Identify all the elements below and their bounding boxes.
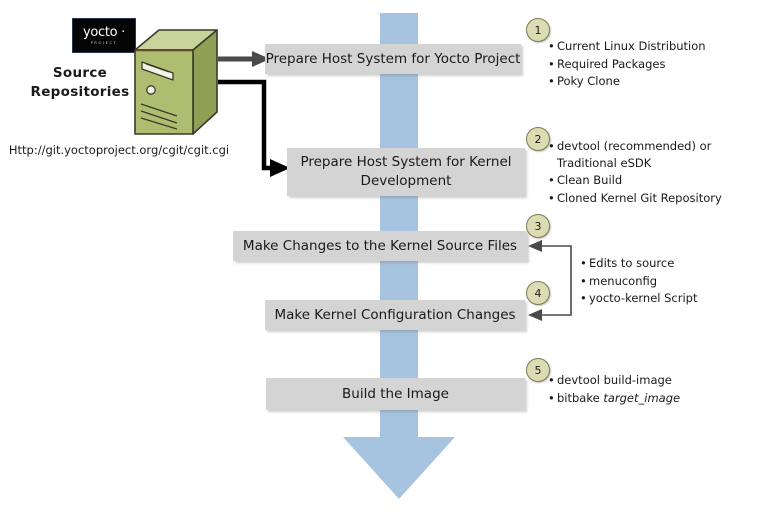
list-item: • Poky Clone	[548, 73, 762, 90]
bullet-marker-icon: •	[548, 172, 557, 189]
process-box-step-2[interactable]: Prepare Host System for Kernel Developme…	[287, 148, 525, 196]
step-badge-1-number: 1	[535, 24, 542, 37]
yocto-logo-wordmark: yocto ·	[83, 26, 125, 39]
step-badge-3: 3	[526, 214, 550, 238]
bullet-list-steps-3-4: • Edits to source • menuconfig • yocto-k…	[580, 255, 760, 308]
source-repositories-label: Source Repositories	[16, 64, 144, 102]
list-item-label: menuconfig	[589, 273, 760, 290]
bullet-marker-icon: •	[580, 255, 589, 272]
process-box-step-5-label: Build the Image	[342, 385, 449, 404]
step-badge-4-number: 4	[535, 287, 542, 300]
step-badge-4: 4	[526, 281, 550, 305]
list-item: • Current Linux Distribution	[548, 38, 762, 55]
process-box-step-2-label: Prepare Host System for Kernel Developme…	[300, 153, 511, 191]
bullet-marker-icon: •	[548, 190, 557, 207]
step-badge-3-number: 3	[535, 220, 542, 233]
process-box-step-1-label: Prepare Host System for Yocto Project	[266, 50, 521, 69]
bullet-marker-icon: •	[580, 290, 589, 307]
list-item-label: yocto-kernel Script	[589, 290, 760, 307]
list-item-label-composite: bitbake target_image	[557, 390, 762, 407]
step-badge-5: 5	[526, 358, 550, 382]
yocto-logo-subtitle: PROJECT	[91, 40, 118, 46]
step-badge-5-number: 5	[535, 364, 542, 377]
bullet-marker-icon: •	[548, 38, 557, 55]
process-box-step-3[interactable]: Make Changes to the Kernel Source Files	[233, 231, 527, 261]
step-badge-2: 2	[526, 127, 550, 151]
list-item: • Required Packages	[548, 56, 762, 73]
list-item-label: devtool (recommended) or Traditional eSD…	[557, 138, 762, 171]
bullet-marker-icon: •	[548, 390, 557, 407]
bullet-marker-icon: •	[548, 138, 557, 171]
process-box-step-4[interactable]: Make Kernel Configuration Changes	[265, 300, 525, 330]
list-item: • devtool (recommended) or Traditional e…	[548, 138, 762, 171]
list-item: • yocto-kernel Script	[580, 290, 760, 307]
process-box-step-1[interactable]: Prepare Host System for Yocto Project	[265, 44, 521, 74]
list-item-label: devtool build-image	[557, 372, 762, 389]
workflow-spine-arrowhead	[343, 437, 455, 499]
process-box-step-4-label: Make Kernel Configuration Changes	[274, 306, 515, 325]
list-item-label: Cloned Kernel Git Repository	[557, 190, 762, 207]
server-icon	[133, 28, 219, 138]
process-box-step-2-label-line2: Development	[361, 173, 452, 189]
list-item-label: Poky Clone	[557, 73, 762, 90]
list-item: • Cloned Kernel Git Repository	[548, 190, 762, 207]
list-item: • Clean Build	[548, 172, 762, 189]
list-item-label-italic: target_image	[603, 391, 680, 405]
list-item-label: Clean Build	[557, 172, 762, 189]
source-repositories-url: Http://git.yoctoproject.org/cgit/cgit.cg…	[4, 143, 234, 157]
workflow-spine	[380, 13, 418, 438]
list-item: • bitbake target_image	[548, 390, 762, 407]
process-box-step-2-label-line1: Prepare Host System for Kernel	[300, 154, 511, 170]
step-badge-1: 1	[526, 18, 550, 42]
process-box-step-3-label: Make Changes to the Kernel Source Files	[243, 237, 517, 256]
bullet-marker-icon: •	[548, 372, 557, 389]
bullet-list-step-2: • devtool (recommended) or Traditional e…	[548, 138, 762, 207]
bullet-marker-icon: •	[548, 73, 557, 90]
yocto-project-logo: yocto · PROJECT	[72, 18, 136, 53]
connector-steps-3-4-bracket	[524, 236, 582, 322]
bullet-list-step-5: • devtool build-image • bitbake target_i…	[548, 372, 762, 407]
bullet-marker-icon: •	[580, 273, 589, 290]
list-item-label: Required Packages	[557, 56, 762, 73]
list-item-label: Current Linux Distribution	[557, 38, 762, 55]
list-item: • menuconfig	[580, 273, 760, 290]
process-box-step-5[interactable]: Build the Image	[266, 378, 525, 410]
step-badge-2-number: 2	[535, 133, 542, 146]
source-repositories-label-line1: Source	[16, 64, 144, 83]
list-item-label: Edits to source	[589, 255, 760, 272]
list-item: • devtool build-image	[548, 372, 762, 389]
list-item-label-prefix: bitbake	[557, 391, 603, 405]
bullet-marker-icon: •	[548, 56, 557, 73]
bullet-list-step-1: • Current Linux Distribution • Required …	[548, 38, 762, 91]
connector-server-to-step2	[218, 78, 296, 178]
list-item: • Edits to source	[580, 255, 760, 272]
source-repositories-label-line2: Repositories	[16, 83, 144, 102]
